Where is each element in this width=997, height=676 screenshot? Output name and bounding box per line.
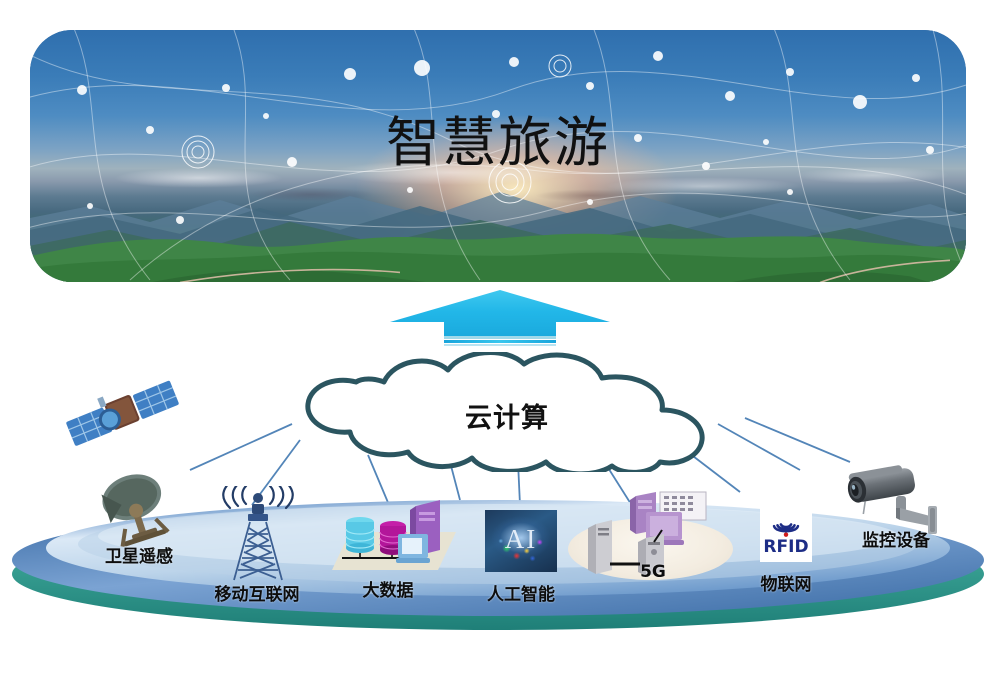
cell-tower-icon — [216, 486, 300, 582]
page-title: 智慧旅游 — [30, 98, 966, 177]
node-label: 人工智能 — [487, 580, 555, 605]
node-mobile-internet[interactable]: 移动互联网 — [192, 486, 322, 604]
cloud-label: 云计算 — [262, 396, 752, 435]
node-label: 监控设备 — [862, 526, 930, 551]
ai-brain-icon: AI — [485, 510, 557, 572]
node-label: 卫星遥感 — [105, 542, 173, 567]
node-satellite-remote-sensing[interactable]: 卫星遥感 — [84, 470, 194, 570]
ai-badge: AI — [485, 524, 557, 555]
node-label: 移动互联网 — [215, 580, 300, 605]
node-artificial-intelligence[interactable]: AI 人工智能 — [466, 510, 576, 606]
satellite-orbit-icon — [62, 372, 186, 462]
node-surveillance-equipment[interactable]: 监控设备 — [828, 462, 964, 568]
upward-arrow-icon — [388, 288, 612, 350]
node-internet-of-things[interactable]: RFID 物联网 — [740, 500, 832, 596]
cloud-computing-node[interactable]: 云计算 — [262, 352, 752, 472]
database-servers-icon — [320, 498, 456, 574]
hero-banner: 智慧旅游 — [30, 30, 966, 282]
rfid-label: RFID — [763, 539, 808, 556]
node-label: 物联网 — [761, 570, 812, 595]
rfid-wave-icon — [769, 515, 803, 539]
node-big-data[interactable]: 大数据 — [318, 498, 458, 598]
node-5g[interactable]: 5G — [568, 490, 738, 590]
satellite-dish-icon — [90, 470, 186, 552]
node-label: 大数据 — [363, 576, 414, 601]
rfid-icon: RFID — [760, 500, 812, 562]
diagram-canvas: 智慧旅游 — [0, 0, 997, 676]
node-label: 5G — [640, 562, 666, 582]
